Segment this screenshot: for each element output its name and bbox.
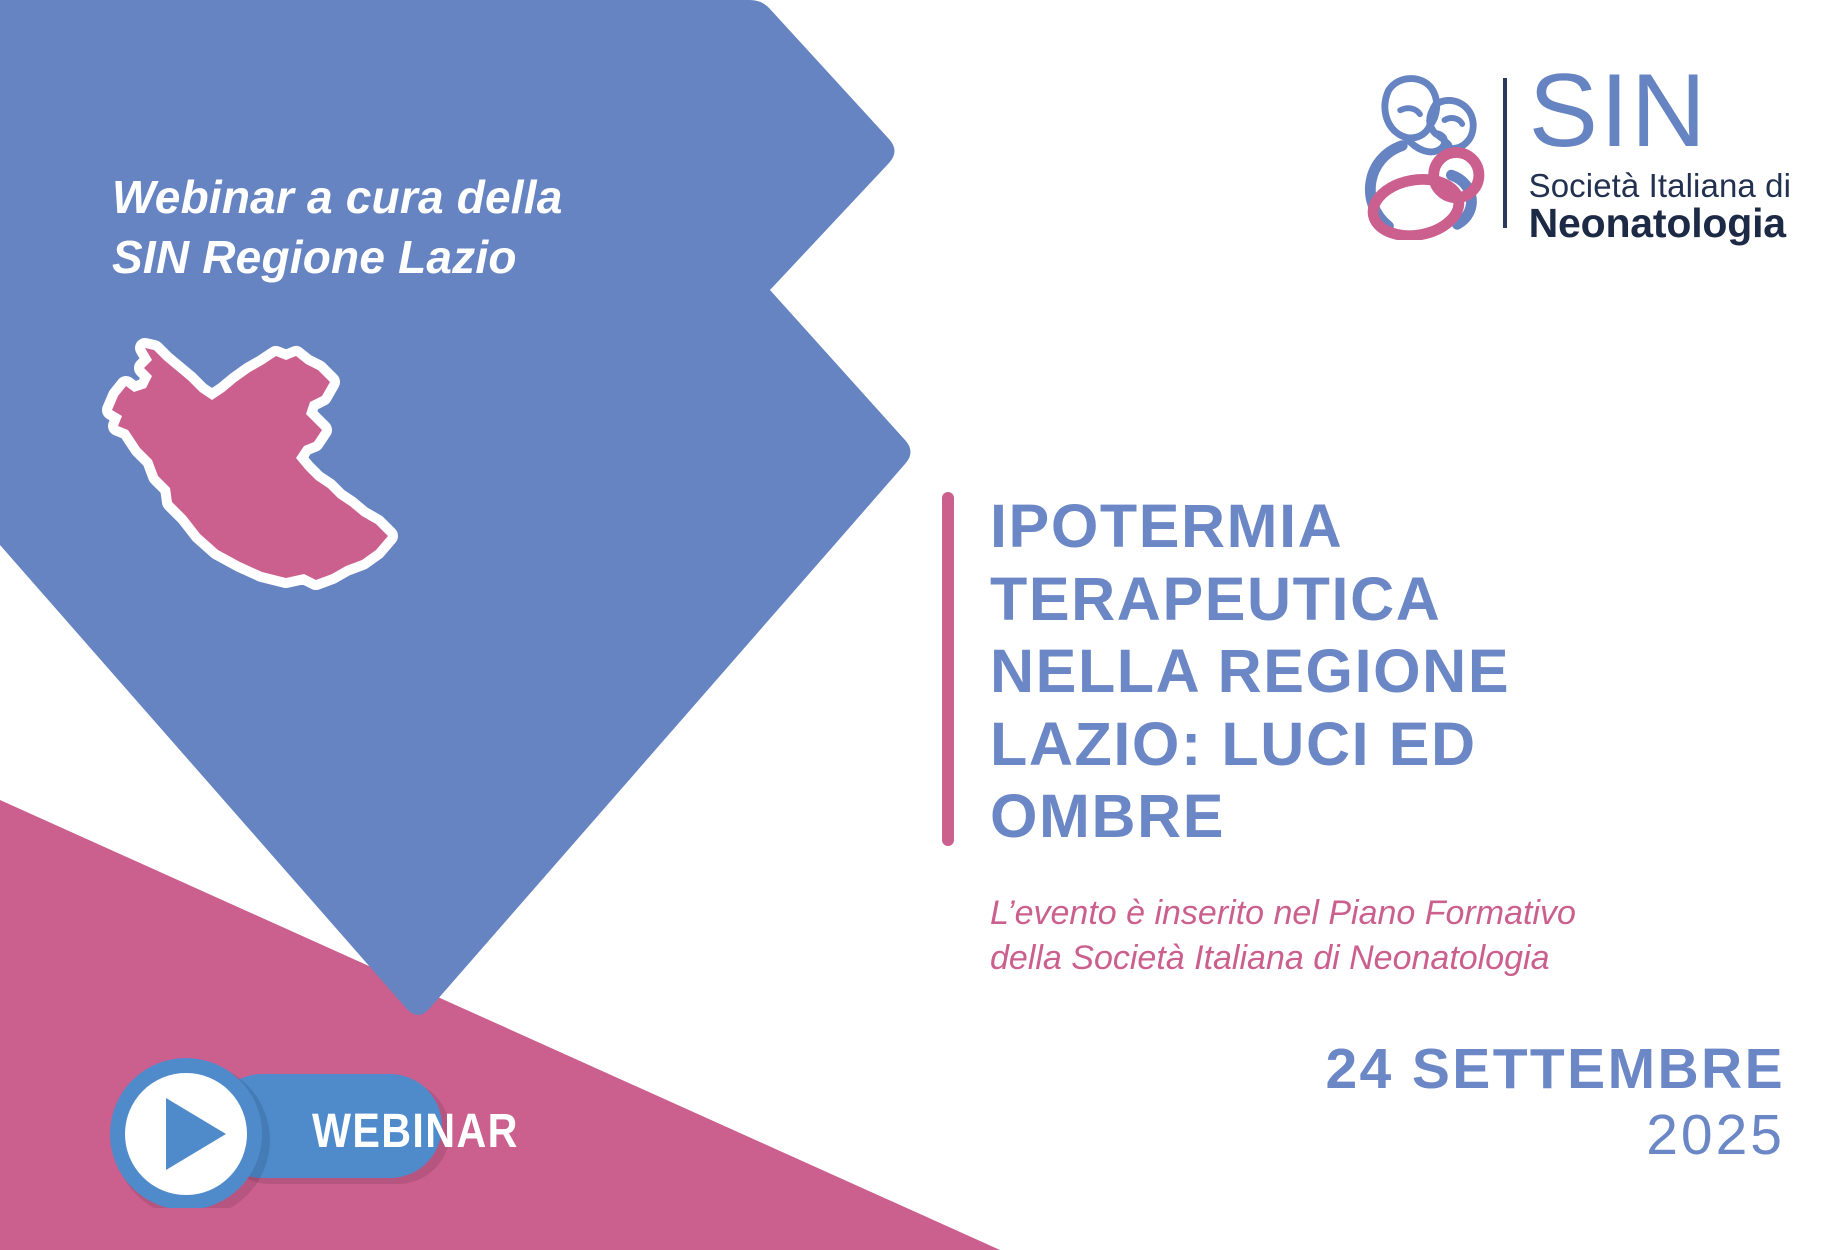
event-note-line-2: della Società Italiana di Neonatologia: [990, 936, 1766, 982]
logo-divider: [1503, 78, 1507, 228]
logo-wordmark: SIN Società Italiana di Neonatologia: [1529, 62, 1791, 244]
event-title-line-1: IPOTERMIA: [990, 490, 1766, 563]
lazio-map: [100, 330, 400, 605]
event-title-line-5: OMBRE: [990, 780, 1766, 853]
event-title-line-3: NELLA REGIONE: [990, 635, 1766, 708]
kicker-line-1: Webinar a cura della: [112, 168, 732, 228]
mother-and-baby-icon: [1341, 65, 1489, 240]
webinar-badge-label-wrap: WEBINAR: [100, 1058, 460, 1208]
event-note-line-1: L’evento è inserito nel Piano Formativo: [990, 891, 1766, 937]
logo-acronym: SIN: [1529, 62, 1791, 161]
event-date-day-month: 24 SETTEMBRE: [1025, 1040, 1785, 1100]
kicker-line-2: SIN Regione Lazio: [112, 228, 732, 288]
event-date: 24 SETTEMBRE 2025: [1025, 1040, 1785, 1171]
event-title-line-2: TERAPEUTICA: [990, 563, 1766, 636]
kicker-heading: Webinar a cura della SIN Regione Lazio: [112, 168, 732, 288]
event-title: IPOTERMIA TERAPEUTICA NELLA REGIONE LAZI…: [946, 490, 1766, 853]
title-block: IPOTERMIA TERAPEUTICA NELLA REGIONE LAZI…: [946, 490, 1766, 982]
event-title-line-4: LAZIO: LUCI ED: [990, 708, 1766, 781]
logo-subtitle-line-1: Società Italiana di: [1529, 169, 1791, 202]
event-date-year: 2025: [1025, 1100, 1785, 1171]
event-note: L’evento è inserito nel Piano Formativo …: [946, 853, 1766, 982]
webinar-badge-label: WEBINAR: [312, 1108, 519, 1156]
lazio-region-map-icon: [100, 330, 400, 605]
logo-subtitle-line-2: Neonatologia: [1529, 203, 1791, 244]
poster-canvas: Webinar a cura della SIN Regione Lazio: [0, 0, 1833, 1250]
webinar-badge[interactable]: WEBINAR: [100, 1058, 460, 1208]
sin-logo: SIN Società Italiana di Neonatologia: [1341, 62, 1791, 244]
